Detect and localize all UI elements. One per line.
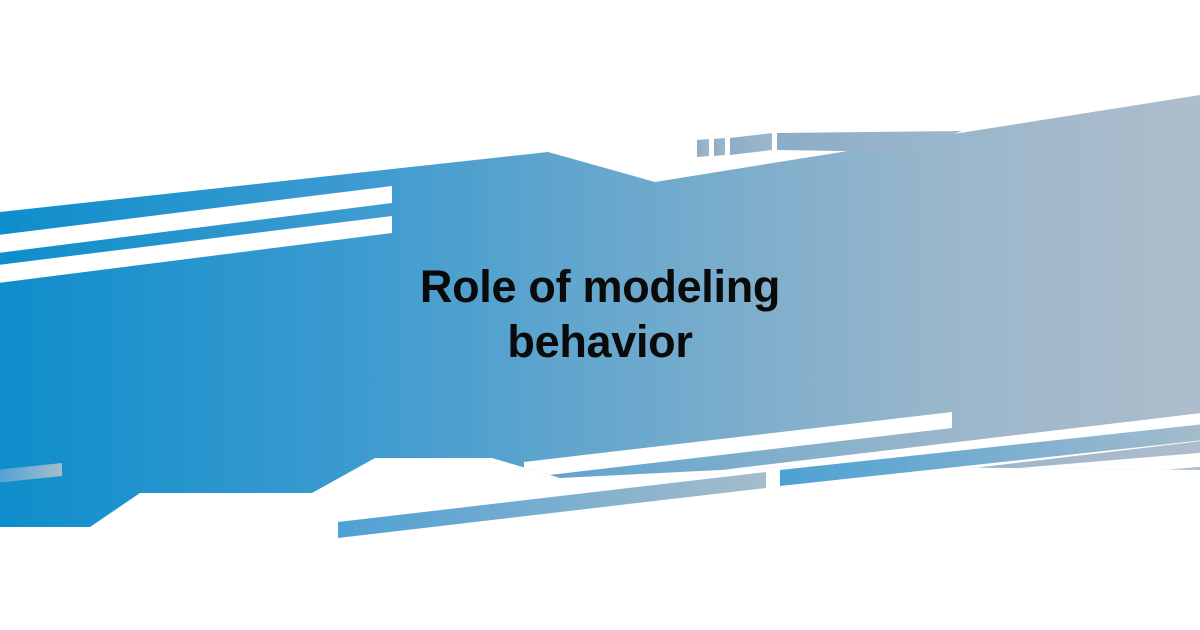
dash-mark-bar-medium — [730, 133, 772, 155]
detached-bar-left — [338, 472, 766, 538]
banner-canvas: Role of modeling behavior — [0, 0, 1200, 630]
decorative-artwork — [0, 0, 1200, 630]
dash-mark-square-2 — [714, 138, 725, 156]
dash-mark-square-1 — [697, 139, 709, 157]
main-gradient-shape — [0, 95, 1200, 556]
